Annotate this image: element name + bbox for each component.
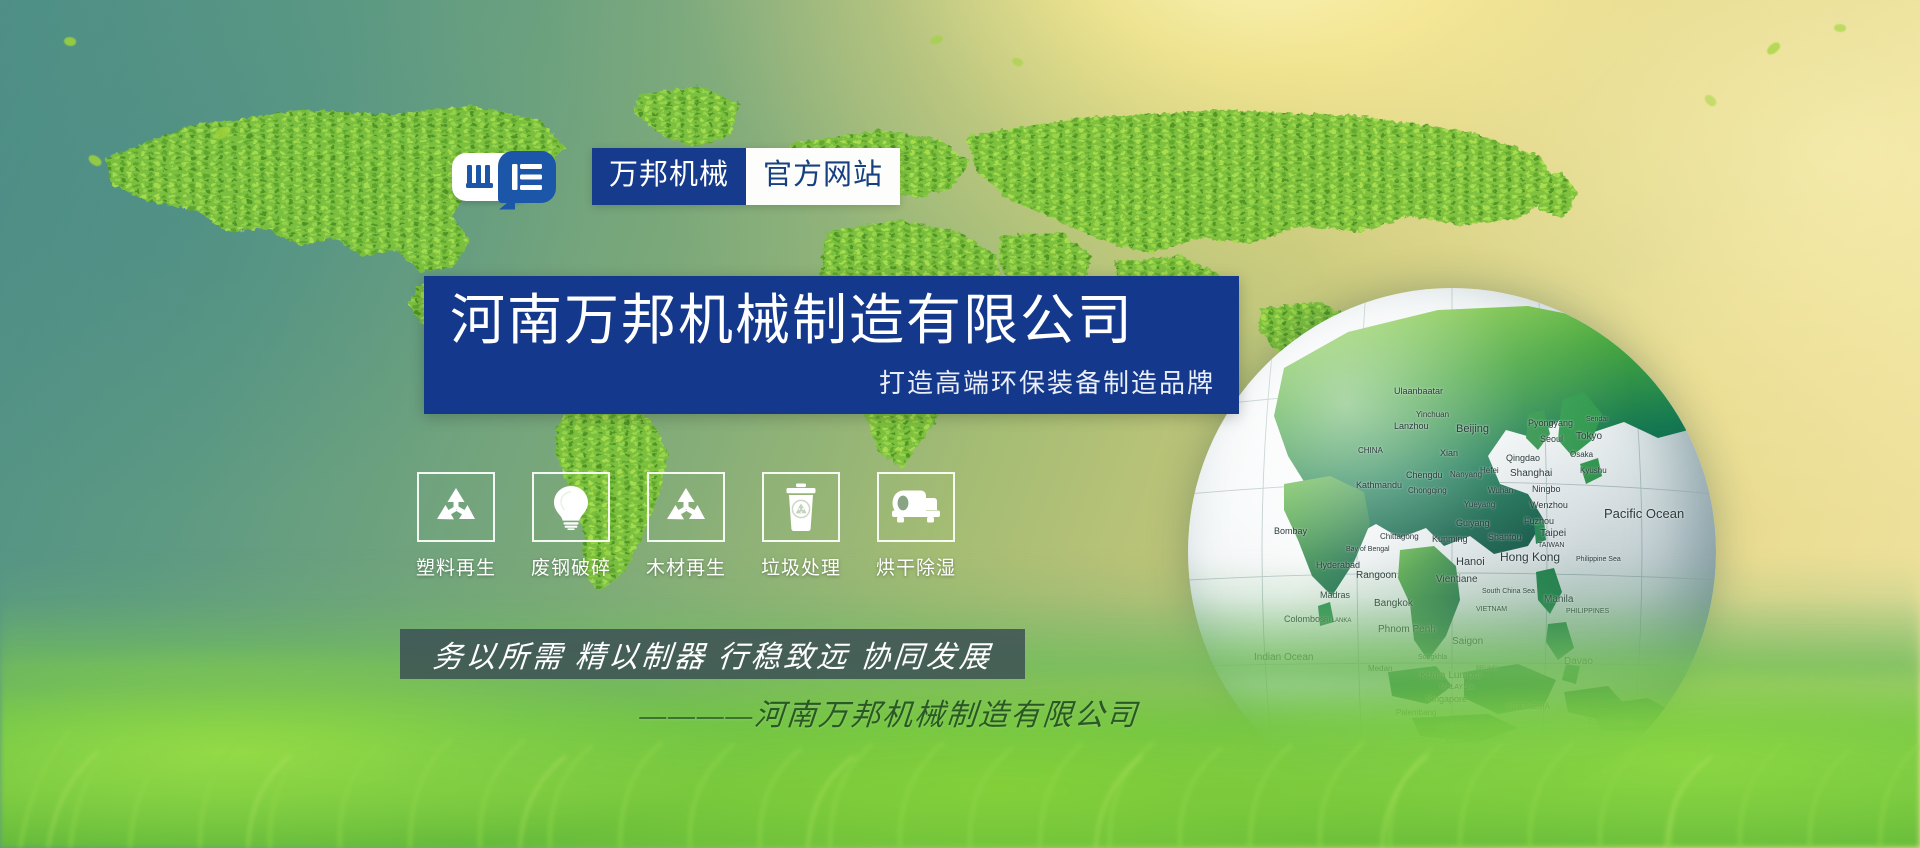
feature-label: 烘干除湿 xyxy=(876,553,956,580)
feature-label: 废钢破碎 xyxy=(531,553,611,580)
tab-official-site[interactable]: 官方网站 xyxy=(746,148,900,205)
slogan-text: 务以所需 精以制器 行稳致远 协同发展 xyxy=(431,632,994,676)
feature-item-wood-recycling[interactable]: 木材再生 xyxy=(642,472,730,580)
slogan-bar: 务以所需 精以制器 行稳致远 协同发展 xyxy=(400,629,1025,679)
brand-header: 万邦机械 官方网站 xyxy=(452,148,900,205)
feature-label: 垃圾处理 xyxy=(761,553,841,580)
logo-b-icon xyxy=(512,164,542,190)
feature-item-waste-treatment[interactable]: 垃圾处理 xyxy=(757,472,845,580)
recycle-icon xyxy=(663,485,709,529)
feature-label: 木材再生 xyxy=(646,553,726,580)
feature-icon-frame xyxy=(417,472,495,542)
company-logo[interactable] xyxy=(452,149,564,205)
trash-bin-recycle-icon xyxy=(783,483,819,531)
feature-icon-row: 塑料再生 废钢破碎 xyxy=(412,472,960,580)
feature-item-plastic-recycling[interactable]: 塑料再生 xyxy=(412,472,500,580)
logo-bubble-shape xyxy=(498,151,556,203)
tab-company-name[interactable]: 万邦机械 xyxy=(592,148,746,205)
feature-item-drying-dehumidify[interactable]: 烘干除湿 xyxy=(872,472,960,580)
feature-item-scrap-steel-crushing[interactable]: 废钢破碎 xyxy=(527,472,615,580)
feature-icon-frame xyxy=(877,472,955,542)
recycle-icon xyxy=(433,485,479,529)
dryer-machine-icon xyxy=(890,489,942,525)
lightbulb-icon xyxy=(551,484,591,530)
feature-icon-frame xyxy=(762,472,840,542)
feature-icon-frame xyxy=(532,472,610,542)
feature-label: 塑料再生 xyxy=(416,553,496,580)
brand-tabs: 万邦机械 官方网站 xyxy=(592,148,900,205)
logo-w-icon xyxy=(466,165,500,189)
feature-icon-frame xyxy=(647,472,725,542)
page-subtitle: 打造高端环保装备制造品牌 xyxy=(879,363,1215,400)
hero-banner: UlaanbaatarBeijingLanzhouYinchuanPyongya… xyxy=(0,0,1920,848)
page-title: 河南万邦机械制造有限公司 xyxy=(450,290,1134,352)
hero-title-box: 河南万邦机械制造有限公司 打造高端环保装备制造品牌 xyxy=(424,276,1239,414)
slogan-attribution: ————河南万邦机械制造有限公司 xyxy=(638,690,1141,734)
